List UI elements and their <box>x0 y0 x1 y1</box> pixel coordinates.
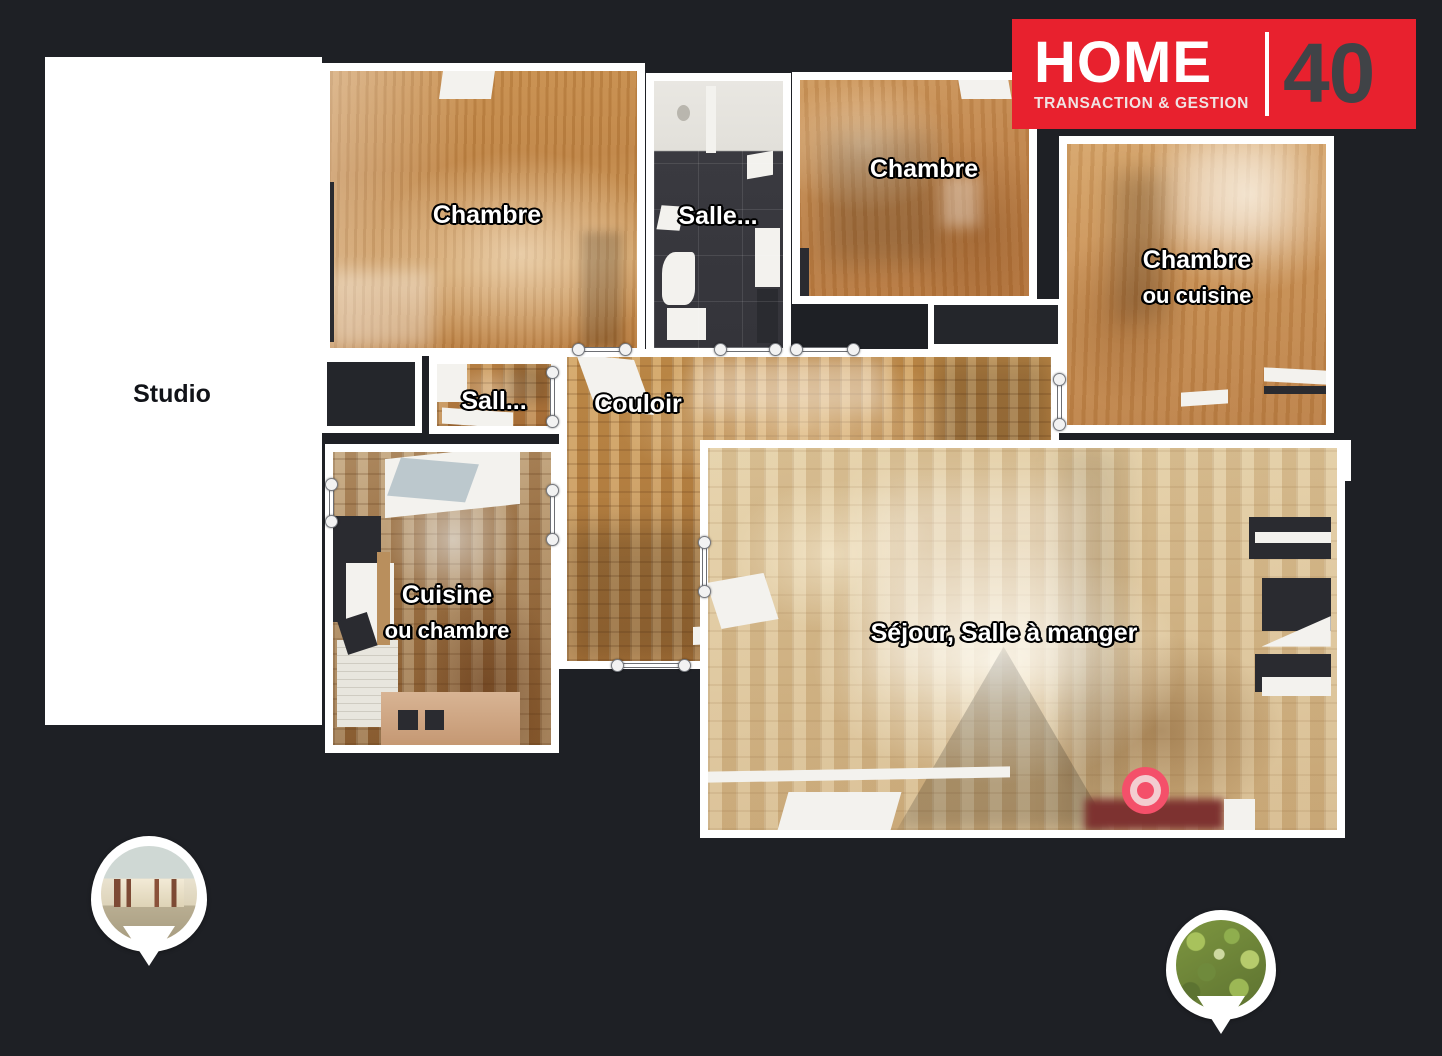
door-marker[interactable] <box>698 536 711 598</box>
pin-tail <box>1197 996 1245 1034</box>
floorplan-canvas: Studio Chambre Salle... <box>0 0 1442 1056</box>
room-studio[interactable] <box>45 57 322 725</box>
room-photo-sall-petite <box>437 364 551 426</box>
room-sall-petite[interactable] <box>429 356 559 434</box>
target-marker[interactable] <box>1122 767 1169 814</box>
room-photo-salle-bain <box>654 81 783 348</box>
room-chambre-2[interactable] <box>792 72 1037 304</box>
logo-divider <box>1265 32 1269 116</box>
door-marker[interactable] <box>325 478 338 528</box>
room-photo-chambre-2 <box>800 80 1029 296</box>
pin-tail <box>123 926 175 966</box>
room-salle-bain[interactable] <box>646 73 791 356</box>
door-marker[interactable] <box>1053 373 1066 431</box>
door-marker[interactable] <box>572 343 632 356</box>
void-frame-chambre-2 <box>928 299 1064 350</box>
room-photo-chambre-1 <box>330 71 637 348</box>
map-pin-house[interactable] <box>91 836 207 952</box>
logo-number: 40 <box>1283 37 1374 111</box>
door-marker[interactable] <box>546 484 559 546</box>
room-photo-cuisine-ou-chambre <box>333 452 551 745</box>
logo-text-group: HOME TRANSACTION & GESTION <box>1034 35 1249 114</box>
company-logo[interactable]: HOME TRANSACTION & GESTION 40 <box>1012 19 1416 129</box>
void-block-left <box>327 362 415 426</box>
door-marker[interactable] <box>790 343 860 356</box>
target-core <box>1137 782 1154 799</box>
door-marker[interactable] <box>611 659 691 672</box>
room-photo-chambre-ou-cuisine <box>1067 144 1326 425</box>
void-frame-left <box>320 355 422 433</box>
door-marker[interactable] <box>714 343 782 356</box>
room-sejour[interactable] <box>700 440 1345 838</box>
room-chambre-ou-cuisine[interactable] <box>1059 136 1334 433</box>
map-pin-garden[interactable] <box>1166 910 1276 1020</box>
logo-word: HOME <box>1034 35 1249 91</box>
logo-subtitle: TRANSACTION & GESTION <box>1034 95 1249 113</box>
room-photo-sejour <box>708 448 1337 830</box>
door-marker[interactable] <box>546 366 559 428</box>
room-cuisine-ou-chambre[interactable] <box>325 444 559 753</box>
target-ring <box>1130 775 1161 806</box>
room-chambre-1[interactable] <box>322 63 645 356</box>
void-block-chambre-2 <box>934 305 1058 344</box>
